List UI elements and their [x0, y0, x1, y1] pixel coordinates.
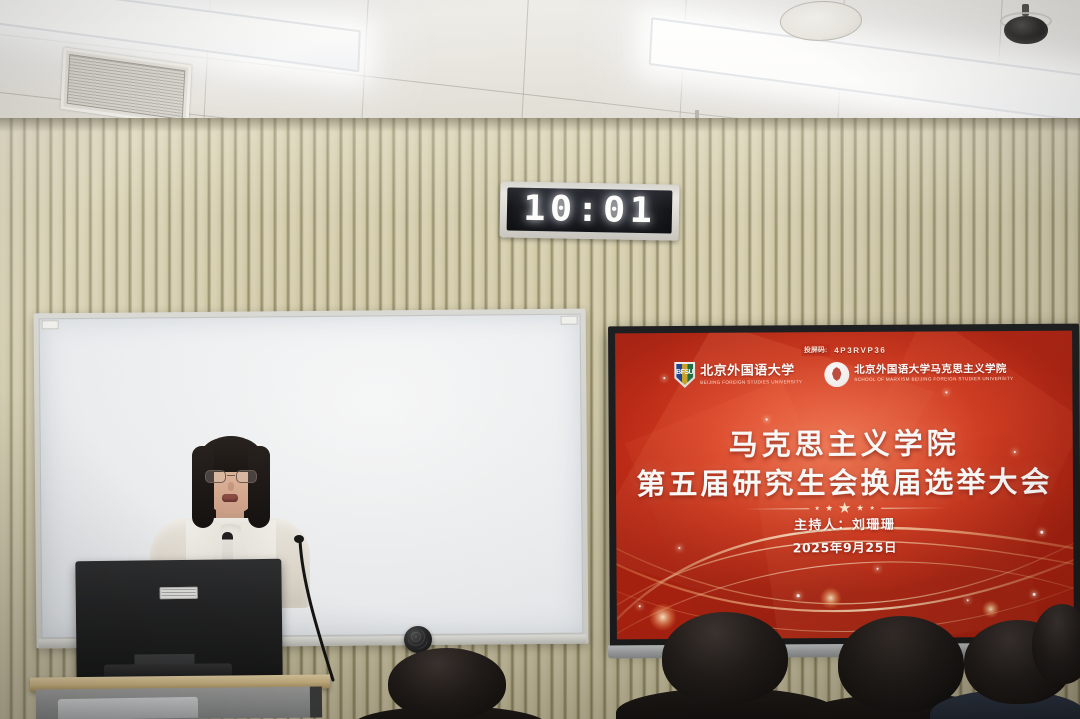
wall-shadow	[0, 118, 1080, 132]
school-of-marxism-logo-en: SCHOOL OF MARXISM BEIJING FOREIGN STUDIE…	[854, 376, 1013, 382]
star-icon	[826, 505, 833, 512]
star-icon	[839, 502, 851, 514]
slide-title-line-1: 马克思主义学院	[616, 426, 1073, 464]
laptop[interactable]	[58, 697, 198, 719]
clock-time: 10:01	[523, 192, 657, 230]
asset-label	[160, 587, 198, 599]
dome-security-camera	[1000, 6, 1052, 46]
screen-cast-code: 投屏码: 4P3RVP36	[801, 344, 887, 357]
audience-member	[662, 612, 788, 704]
star-icon	[815, 506, 820, 511]
bfsu-monogram: BFSU	[676, 369, 693, 376]
slide-host-line: 主持人：刘珊珊	[616, 513, 1073, 535]
bfsu-logo-en: BEIJING FOREIGN STUDIES UNIVERSITY	[700, 379, 802, 385]
screen-cast-code-label: 投屏码:	[801, 344, 830, 356]
ceiling-panel-light	[0, 0, 361, 72]
hvac-vent-grille	[60, 47, 191, 127]
school-of-marxism-logo: 北京外国语大学马克思主义学院 SCHOOL OF MARXISM BEIJING…	[824, 360, 1013, 386]
slide-content: 投屏码: 4P3RVP36 BFSU 北京外国语大学 BEIJING FOREI…	[615, 331, 1074, 640]
digital-wall-clock: 10:01	[499, 181, 679, 240]
audience-member	[1032, 604, 1080, 684]
ceiling-speaker	[778, 1, 864, 41]
conference-room-photo: 10:01	[0, 0, 1080, 719]
slide-title-line-2: 第五届研究生会换届选举大会	[616, 465, 1073, 503]
bfsu-logo-cn: 北京外国语大学	[700, 364, 802, 378]
slide-titles: 马克思主义学院 第五届研究生会换届选举大会	[616, 426, 1073, 504]
slide-subtitles: 主持人：刘珊珊 2025年9月25日	[616, 513, 1073, 558]
screen-cast-code-value: 4P3RVP36	[834, 345, 886, 354]
presentation-display[interactable]: 投屏码: 4P3RVP36 BFSU 北京外国语大学 BEIJING FOREI…	[608, 324, 1080, 648]
audience-member	[838, 616, 964, 712]
school-of-marxism-roundel-icon	[824, 361, 849, 386]
star-icon	[857, 504, 864, 511]
star-icon	[870, 505, 875, 510]
bfsu-shield-icon: BFSU	[674, 362, 695, 388]
gooseneck-microphone	[292, 534, 338, 684]
school-of-marxism-logo-cn: 北京外国语大学马克思主义学院	[854, 364, 1013, 376]
podium-monitor[interactable]	[75, 559, 282, 680]
slide-date-line: 2025年9月25日	[616, 536, 1073, 558]
audience-member	[388, 648, 506, 719]
slide-logos: BFSU 北京外国语大学 BEIJING FOREIGN STUDIES UNI…	[615, 360, 1072, 389]
bfsu-logo: BFSU 北京外国语大学 BEIJING FOREIGN STUDIES UNI…	[674, 361, 802, 388]
